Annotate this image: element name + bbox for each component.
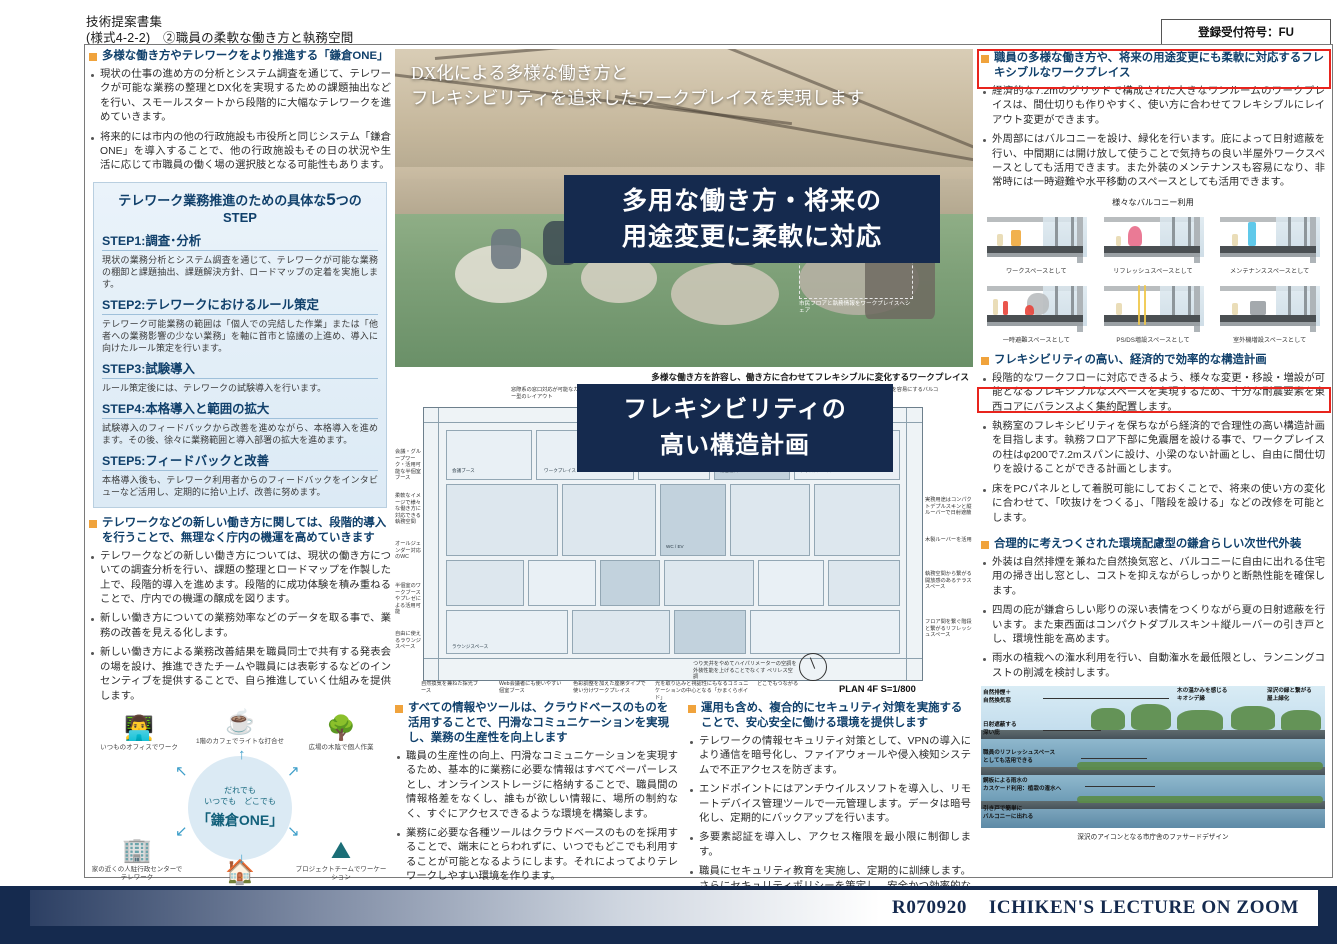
plan-note: Web会議者にも使いやすい個室ブース (499, 681, 563, 695)
step-item: STEP3:試験導入 ルール策定後には、テレワークの試験導入を行います。 (102, 359, 378, 394)
middle-column: DX化による多様な働き方と フレキシビリティを追求したワークプレイスを実現します… (395, 49, 973, 871)
plan-note: 木製ルーバーを活用 (925, 537, 973, 544)
document-header: 技術提案書集 (様式4-2-2) ②職員の柔軟な働き方と執務空間 (86, 14, 354, 46)
list-item: エンドポイントにはアンチウイルスソフトを導入し、リモートデバイス管理ツールで一元… (688, 783, 971, 826)
list-item: 新しい働き方による業務改善結果を職員同士で共有する発表会の場を設け、推進できたチ… (89, 646, 391, 704)
diagram-node-outdoor: 🌳 広場の木陰で個人作業 (293, 716, 389, 753)
one-center-circle: だれでも いつでも どこでも 「鎌倉ONE」 (188, 756, 292, 860)
facade-label: 鋼板による雨水の カスケード利用：植栽の潅水へ (983, 778, 1081, 793)
bullet-square-icon (981, 541, 989, 549)
plan-note: 自由に使えるラウンジスペース (395, 631, 421, 651)
balcony-diagram-title: 様々なバルコニー利用 (981, 196, 1325, 208)
plan-note: 実務用途はコンパクトデプルスキンと縦ルーバーで日射遮蔽 (925, 497, 973, 517)
right-column: 職員の多様な働き方や、将来の用途変更にも柔軟に対応するフレキシブルなワークプレイ… (975, 45, 1331, 873)
red-highlight-box-2 (977, 387, 1331, 413)
facade-label: 職員のリフレッシュスペース としても活用できる (983, 750, 1077, 765)
bottom-right-heading: 運用も含め、複合的にセキュリティ対策を実施することで、安心安全に働ける環境を提供… (688, 701, 971, 731)
list-item: 多要素認証を導入し、アクセス権限を最小限に制御します。 (688, 831, 971, 860)
list-item: 現状の仕事の進め方の分析とシステム調査を通じて、テレワークが可能な業務の整理とD… (89, 68, 391, 126)
bottom-left-heading: すべての情報やツールは、クラウドベースのものを活用することで、円滑なコミュニケー… (395, 701, 678, 746)
bullet-square-icon (981, 357, 989, 365)
balcony-item: PS/DS増設スペースとして (1098, 281, 1209, 345)
slide-page: 技術提案書集 (様式4-2-2) ②職員の柔軟な働き方と執務空間 登録受付符号：… (0, 0, 1337, 944)
bullet-square-icon (395, 705, 403, 713)
bullet-square-icon (89, 520, 97, 528)
photo-inset-note: 市民フロアと執務情報をワークプレイスへシェア (799, 301, 915, 316)
arrow-up-icon: ↑ (238, 746, 246, 763)
right-section3-bullets: 外装は自然排煙を兼ねた自然換気窓と、バルコニーに自由に出れる住宅用の掃き出し窓と… (981, 556, 1325, 681)
right-section1-bullets: 経済的な7.2mのグリッドで構成された大きなワンルームのワークプレイスは、間仕切… (981, 85, 1325, 191)
bullet-square-icon (688, 705, 696, 713)
list-item: 新しい働き方についての業務効率などのデータを取る事で、業務の改善を見える化します… (89, 612, 391, 641)
workation-icon: ⛰ (293, 838, 389, 864)
arrow-down-right-icon: ↘ (287, 822, 300, 840)
plan-note: オールジェンダー対応のWC (395, 541, 421, 561)
step-item: STEP2:テレワークにおけるルール策定 テレワーク可能業務の範囲は「個人での完… (102, 295, 378, 354)
step-item: STEP1:調査･分析 現状の業務分析とシステム調査を通じて、テレワークが可能な… (102, 231, 378, 290)
registration-number-box: 登録受付符号：FU (1161, 19, 1331, 45)
badge-flexible-work: 多用な働き方・将来の 用途変更に柔軟に対応 (564, 175, 940, 263)
left-column: 多様な働き方やテレワークをより推進する「鎌倉ONE」 現状の仕事の進め方の分析と… (89, 49, 391, 871)
step-item: STEP5:フィードバックと改善 本格導入後も、テレワーク利用者からのフィードバ… (102, 451, 378, 498)
arrow-down-icon: ↓ (238, 850, 246, 867)
facade-caption: 深沢のアイコンとなる市庁舎のファサードデザイン (981, 831, 1325, 841)
footer-title: ICHIKEN'S LECTURE ON ZOOM (989, 897, 1299, 918)
plan-note: 執務空間から繋がる開放感のあるテラススペース (925, 571, 973, 591)
left-section2-heading: テレワークなどの新しい働き方に関しては、段階的導入を行うことで、無理なく庁内の機… (89, 516, 391, 546)
proposal-sheet: 多様な働き方やテレワークをより推進する「鎌倉ONE」 現状の仕事の進め方の分析と… (84, 44, 1333, 878)
bullet-square-icon (89, 53, 97, 61)
balcony-usage-diagram: 様々なバルコニー利用 ワークスペースとして (981, 196, 1325, 345)
plan-note: 柔軟なイメージで様々な働き方に対応できる執務空間 (395, 493, 421, 526)
plan-note: 半個室のワークブースやプレゼによる活用可能 (395, 583, 421, 616)
list-item: テレワークなどの新しい働き方については、現状の働き方についての調査分析を行い、課… (89, 550, 391, 608)
facade-label: 深沢の緑と繋がる 屋上緑化 (1267, 688, 1325, 703)
steps-panel: テレワーク業務推進のための具体な5つのSTEP STEP1:調査･分析 現状の業… (93, 182, 387, 508)
bottom-left-block: すべての情報やツールは、クラウドベースのものを活用することで、円滑なコミュニケー… (395, 701, 678, 877)
list-item: 外装は自然排煙を兼ねた自然換気窓と、バルコニーに自由に出れる住宅用の掃き出し窓と… (981, 556, 1325, 599)
list-item: 将来的には市内の他の行政施設も市役所と同じシステム「鎌倉ONE」を導入することで… (89, 131, 391, 174)
balcony-item: メンテナンススペースとして (1214, 212, 1325, 276)
list-item: 外周部にはバルコニーを設け、緑化を行います。庇によって日射遮蔽を行い、中間期には… (981, 133, 1325, 191)
left-section1-heading: 多様な働き方やテレワークをより推進する「鎌倉ONE」 (89, 49, 391, 64)
cafe-meeting-icon: ☕ (192, 710, 288, 736)
doc-title-line1: 技術提案書集 (86, 14, 354, 30)
step-item: STEP4:本格導入と範囲の拡大 試験導入のフィードバックから改善を進めながら、… (102, 399, 378, 446)
diagram-node-satellite: 🏢 家の近くの人駐行政センターでテレワーク (89, 838, 185, 883)
plan-note: 自然換気を兼ねた採光ブース (421, 681, 483, 695)
list-item: テレワークの情報セキュリティ対策として、VPNの導入により通信を暗号化し、ファイ… (688, 735, 971, 778)
satellite-center-icon: 🏢 (89, 838, 185, 864)
list-item: 執務室のフレキシビリティを保ちながら経済的で合理性の高い構造計画を目指します。執… (981, 420, 1325, 478)
list-item: 雨水の植栽への潅水利用を行い、自動潅水を最低限とし、ランニングコストの削減を検討… (981, 652, 1325, 681)
balcony-item: 一時避難スペースとして (981, 281, 1092, 345)
list-item: 経済的な7.2mのグリッドで構成された大きなワンルームのワークプレイスは、間仕切… (981, 85, 1325, 128)
footer-text: R070920ICHIKEN'S LECTURE ON ZOOM (892, 897, 1299, 919)
office-work-icon: 👨‍💻 (91, 716, 187, 742)
bottom-left-bullets: 職員の生産性の向上、円滑なコミュニケーションを実現するため、基本的に業務に必要な… (395, 750, 678, 885)
list-item: 四周の庇が鎌倉らしい彫りの深い表情をつくりながら夏の日射遮蔽を行います。また東西… (981, 604, 1325, 647)
arrow-up-left-icon: ↖ (175, 762, 188, 780)
diagram-node-office: 👨‍💻 いつものオフィスでワーク (91, 716, 187, 753)
plan-note: どこでもつながる (757, 681, 803, 688)
plan-note: つり天井をやめてハイパリメーターの空調を外装性能を上げることでなくす ペリレス空… (693, 661, 797, 681)
north-arrow-icon (799, 653, 827, 681)
diagram-node-cafe: ☕ 1階のカフェでライトな打合せ (192, 710, 288, 747)
bottom-right-block: 運用も含め、複合的にセキュリティ対策を実施することで、安心安全に働ける環境を提供… (688, 701, 971, 877)
list-item: 職員の生産性の向上、円滑なコミュニケーションを実現するため、基本的に業務に必要な… (395, 750, 678, 822)
facade-label: 木の温かみを感じる キオシデ縁 (1177, 688, 1249, 703)
list-item: 床をPCパネルとして着脱可能にしておくことで、将来の使い方の変化に合わせて、「吹… (981, 483, 1325, 526)
left-section1-bullets: 現状の仕事の進め方の分析とシステム調査を通じて、テレワークが可能な業務の整理とD… (89, 68, 391, 174)
facade-rendering: 自然排煙＋ 自然換気窓 日射遮蔽する 深い庇 職員のリフレッシュスペース として… (981, 686, 1325, 841)
arrow-down-left-icon: ↙ (175, 822, 188, 840)
balcony-item: ワークスペースとして (981, 212, 1092, 276)
red-highlight-box-1 (977, 49, 1331, 89)
bottom-text-columns: すべての情報やツールは、クラウドベースのものを活用することで、円滑なコミュニケー… (395, 701, 973, 877)
plan-note: 色彩調整を加えた座席タイプで使い分けワークプレイス (573, 681, 647, 695)
plan-scale-label: PLAN 4F S=1/800 (839, 683, 916, 694)
outdoor-tree-work-icon: 🌳 (293, 716, 389, 742)
balcony-item: 室外機増設スペースとして (1214, 281, 1325, 345)
bottom-right-bullets: テレワークの情報セキュリティ対策として、VPNの導入により通信を暗号化し、ファイ… (688, 735, 971, 908)
right-section3-heading: 合理的に考えつくされた環境配慮型の鎌倉らしい次世代外装 (981, 537, 1325, 552)
arrow-up-right-icon: ↗ (287, 762, 300, 780)
plan-note: 光を取り込みと視認性にもなるコミュニケーションの中心となる「かまくらボイド」 (655, 681, 751, 701)
facade-label: 日射遮蔽する 深い庇 (983, 722, 1043, 737)
plan-caption: 多様な働き方を許容し、働き方に合わせてフレキシブルに変化するワークプレイス (651, 371, 969, 383)
footer-code: R070920 (892, 897, 967, 918)
left-section2-bullets: テレワークなどの新しい働き方については、現状の働き方についての調査分析を行い、課… (89, 550, 391, 704)
plan-note: フロア間を繋ぐ階段と繋がるリフレッシュスペース (925, 619, 973, 639)
badge-flexible-structure: フレキシビリティの 高い構造計画 (577, 384, 893, 472)
plan-note: 会議・グループワーク・活用可能な半個室ブース (395, 449, 421, 482)
facade-label: 自然排煙＋ 自然換気窓 (983, 690, 1043, 705)
steps-panel-title: テレワーク業務推進のための具体な5つのSTEP (102, 190, 378, 225)
facade-label: 引き戸で簡単に バルコニーに出れる (983, 806, 1053, 821)
photo-overlay-title: DX化による多様な働き方と フレキシビリティを追求したワークプレイスを実現します (411, 61, 864, 111)
list-item: 業務に必要な各種ツールはクラウドベースのものを採用することで、端末にとらわれずに… (395, 827, 678, 885)
balcony-item: リフレッシュスペースとして (1098, 212, 1209, 276)
diagram-node-workation: ⛰ プロジェクトチームでワーケーション (293, 838, 389, 883)
right-section2-heading: フレキシビリティの高い、経済的で効率的な構造計画 (981, 353, 1325, 368)
